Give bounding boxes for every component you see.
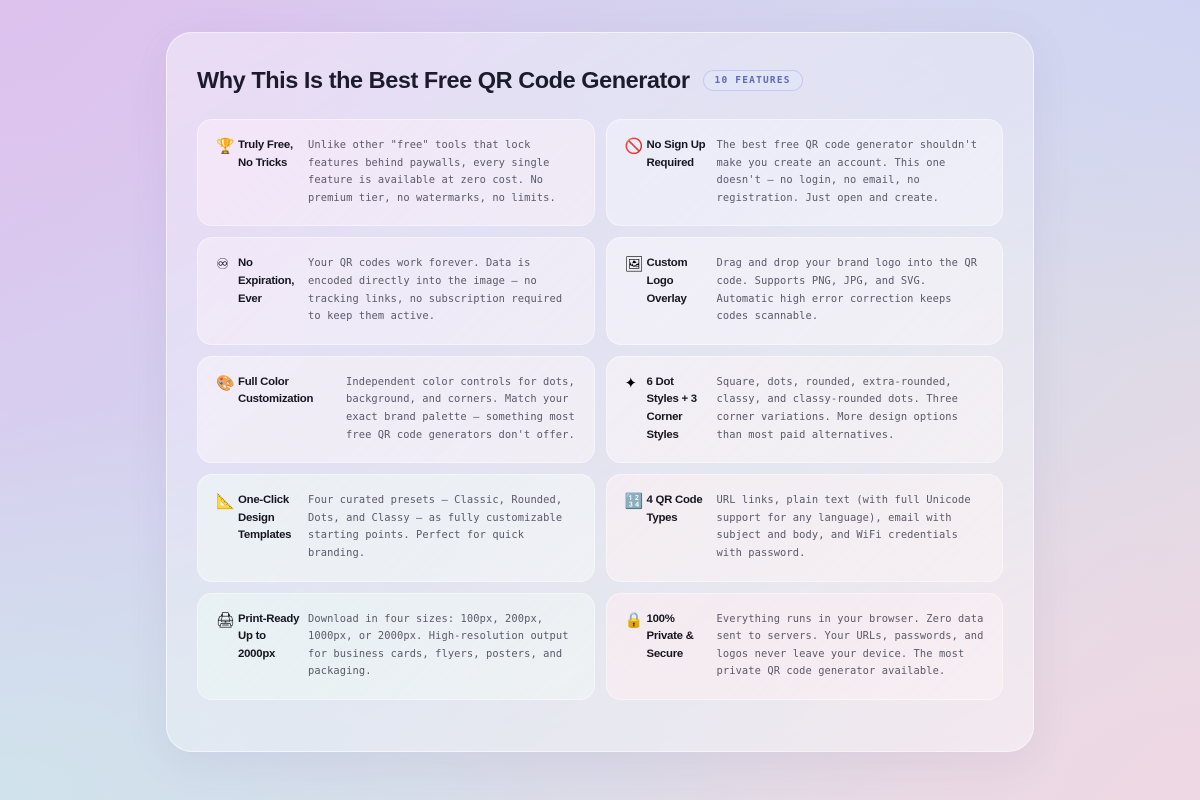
feature-title: No Expiration, Ever: [238, 254, 300, 308]
feature-card: 🎨 Full Color Customization Independent c…: [197, 356, 595, 463]
printer-icon: 🖨: [212, 610, 238, 630]
feature-card: 🔢 4 QR Code Types URL links, plain text …: [606, 474, 1004, 581]
feature-card: 🚫 No Sign Up Required The best free QR c…: [606, 119, 1004, 226]
page-title: Why This Is the Best Free QR Code Genera…: [197, 67, 690, 94]
feature-description: URL links, plain text (with full Unicode…: [709, 491, 985, 562]
feature-title: No Sign Up Required: [647, 136, 709, 172]
feature-description: Square, dots, rounded, extra-rounded, cl…: [709, 373, 985, 444]
panel-header: Why This Is the Best Free QR Code Genera…: [197, 63, 1003, 97]
feature-card: 🖼 Custom Logo Overlay Drag and drop your…: [606, 237, 1004, 344]
feature-card: 📐 One-Click Design Templates Four curate…: [197, 474, 595, 581]
feature-description: Four curated presets — Classic, Rounded,…: [300, 491, 576, 562]
triangular-ruler-icon: 📐: [212, 491, 238, 511]
feature-description: Unlike other "free" tools that lock feat…: [300, 136, 576, 207]
feature-title: Truly Free, No Tricks: [238, 136, 300, 172]
feature-title: 100% Private & Secure: [647, 610, 709, 664]
feature-description: The best free QR code generator shouldn'…: [709, 136, 985, 207]
feature-description: Download in four sizes: 100px, 200px, 10…: [300, 610, 576, 681]
feature-card: 🔒 100% Private & Secure Everything runs …: [606, 593, 1004, 700]
sparkle-icon: ✦: [621, 373, 647, 393]
feature-title: One-Click Design Templates: [238, 491, 300, 545]
feature-title: Full Color Customization: [238, 373, 338, 409]
feature-description: Drag and drop your brand logo into the Q…: [709, 254, 985, 325]
feature-card: ✦ 6 Dot Styles + 3 Corner Styles Square,…: [606, 356, 1004, 463]
keypad-icon: 🔢: [621, 491, 647, 511]
trophy-icon: 🏆: [212, 136, 238, 156]
features-panel: Why This Is the Best Free QR Code Genera…: [166, 32, 1034, 752]
lock-icon: 🔒: [621, 610, 647, 630]
artist-palette-icon: 🎨: [212, 373, 238, 393]
feature-title: Custom Logo Overlay: [647, 254, 709, 308]
feature-description: Everything runs in your browser. Zero da…: [709, 610, 985, 681]
feature-title: 4 QR Code Types: [647, 491, 709, 527]
infinity-icon: ♾: [212, 254, 238, 274]
feature-title: 6 Dot Styles + 3 Corner Styles: [647, 373, 709, 444]
feature-description: Your QR codes work forever. Data is enco…: [300, 254, 576, 325]
feature-card: ♾ No Expiration, Ever Your QR codes work…: [197, 237, 595, 344]
feature-card: 🏆 Truly Free, No Tricks Unlike other "fr…: [197, 119, 595, 226]
no-entry-icon: 🚫: [621, 136, 647, 156]
feature-description: Independent color controls for dots, bac…: [338, 373, 576, 444]
framed-picture-icon: 🖼: [621, 254, 647, 274]
feature-title: Print-Ready Up to 2000px: [238, 610, 300, 664]
feature-count-badge: 10 FEATURES: [703, 70, 803, 91]
feature-grid: 🏆 Truly Free, No Tricks Unlike other "fr…: [197, 119, 1003, 700]
feature-card: 🖨 Print-Ready Up to 2000px Download in f…: [197, 593, 595, 700]
